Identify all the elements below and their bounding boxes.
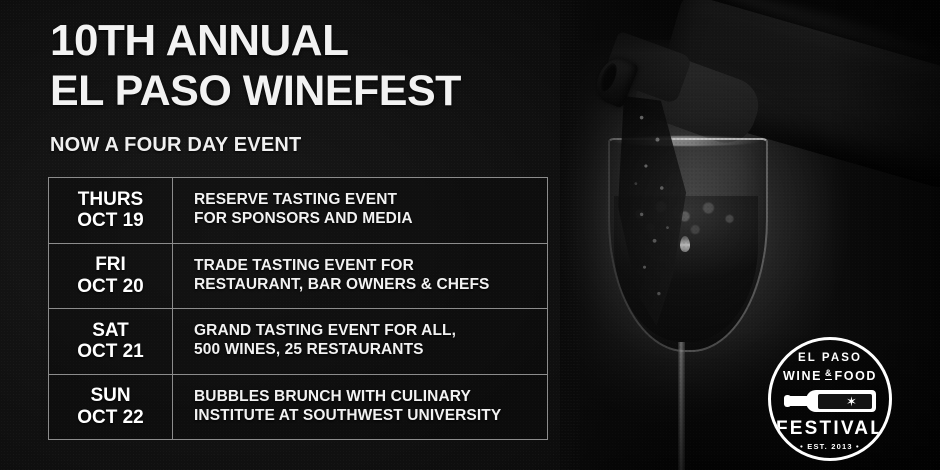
schedule-day-cell: FRI OCT 20 [49, 244, 173, 309]
schedule-day-name: SAT [92, 320, 129, 341]
logo-word-wine: WINE [783, 370, 822, 383]
schedule-desc-line-2: INSTITUTE AT SOUTHWEST UNIVERSITY [194, 407, 539, 426]
event-schedule-table: THURS OCT 19 RESERVE TASTING EVENT FOR S… [48, 177, 548, 440]
schedule-day-name: FRI [95, 254, 126, 275]
logo-line-festival: FESTIVAL [776, 419, 884, 438]
schedule-day-cell: SUN OCT 22 [49, 375, 173, 440]
schedule-day-cell: SAT OCT 21 [49, 309, 173, 374]
schedule-day-date: OCT 19 [77, 210, 144, 231]
headline-line-1: 10TH ANNUAL [50, 20, 570, 62]
page-title: 10TH ANNUAL EL PASO WINEFEST [50, 20, 570, 113]
schedule-desc-line-1: TRADE TASTING EVENT FOR [194, 257, 539, 276]
schedule-day-date: OCT 22 [77, 407, 144, 428]
subheadline: NOW A FOUR DAY EVENT [50, 134, 301, 157]
schedule-desc-line-1: RESERVE TASTING EVENT [194, 191, 539, 210]
schedule-desc-line-2: RESTAURANT, BAR OWNERS & CHEFS [194, 276, 539, 295]
table-row: SAT OCT 21 GRAND TASTING EVENT FOR ALL, … [49, 309, 547, 375]
schedule-description-cell: RESERVE TASTING EVENT FOR SPONSORS AND M… [173, 178, 547, 243]
logo-line-el-paso: EL PASO [798, 353, 862, 365]
schedule-description-cell: GRAND TASTING EVENT FOR ALL, 500 WINES, … [173, 309, 547, 374]
schedule-day-date: OCT 21 [77, 341, 144, 362]
star-icon: ✶ [846, 395, 857, 408]
schedule-day-name: THURS [78, 189, 143, 210]
schedule-day-name: SUN [90, 385, 130, 406]
schedule-day-date: OCT 20 [77, 276, 144, 297]
winefest-poster: 10TH ANNUAL EL PASO WINEFEST NOW A FOUR … [0, 0, 940, 470]
logo-bottle-label [818, 394, 872, 409]
logo-line-wine-and-food: WINE & FOOD [783, 370, 877, 383]
schedule-day-cell: THURS OCT 19 [49, 178, 173, 243]
festival-logo-badge: EL PASO WINE & FOOD ✶ FESTIVAL • EST. 20… [768, 337, 892, 461]
schedule-desc-line-2: FOR SPONSORS AND MEDIA [194, 210, 539, 229]
headline-line-2: EL PASO WINEFEST [50, 71, 570, 112]
logo-word-food: FOOD [835, 370, 878, 383]
table-row: FRI OCT 20 TRADE TASTING EVENT FOR RESTA… [49, 244, 547, 310]
logo-bottle-icon: ✶ [784, 390, 876, 412]
schedule-desc-line-1: BUBBLES BRUNCH WITH CULINARY [194, 388, 539, 407]
table-row: SUN OCT 22 BUBBLES BRUNCH WITH CULINARY … [49, 375, 547, 440]
schedule-description-cell: TRADE TASTING EVENT FOR RESTAURANT, BAR … [173, 244, 547, 309]
logo-line-established: • EST. 2013 • [800, 443, 860, 451]
schedule-desc-line-1: GRAND TASTING EVENT FOR ALL, [194, 322, 539, 341]
logo-ampersand: & [825, 369, 832, 380]
table-row: THURS OCT 19 RESERVE TASTING EVENT FOR S… [49, 178, 547, 244]
schedule-desc-line-2: 500 WINES, 25 RESTAURANTS [194, 341, 539, 360]
schedule-description-cell: BUBBLES BRUNCH WITH CULINARY INSTITUTE A… [173, 375, 547, 440]
